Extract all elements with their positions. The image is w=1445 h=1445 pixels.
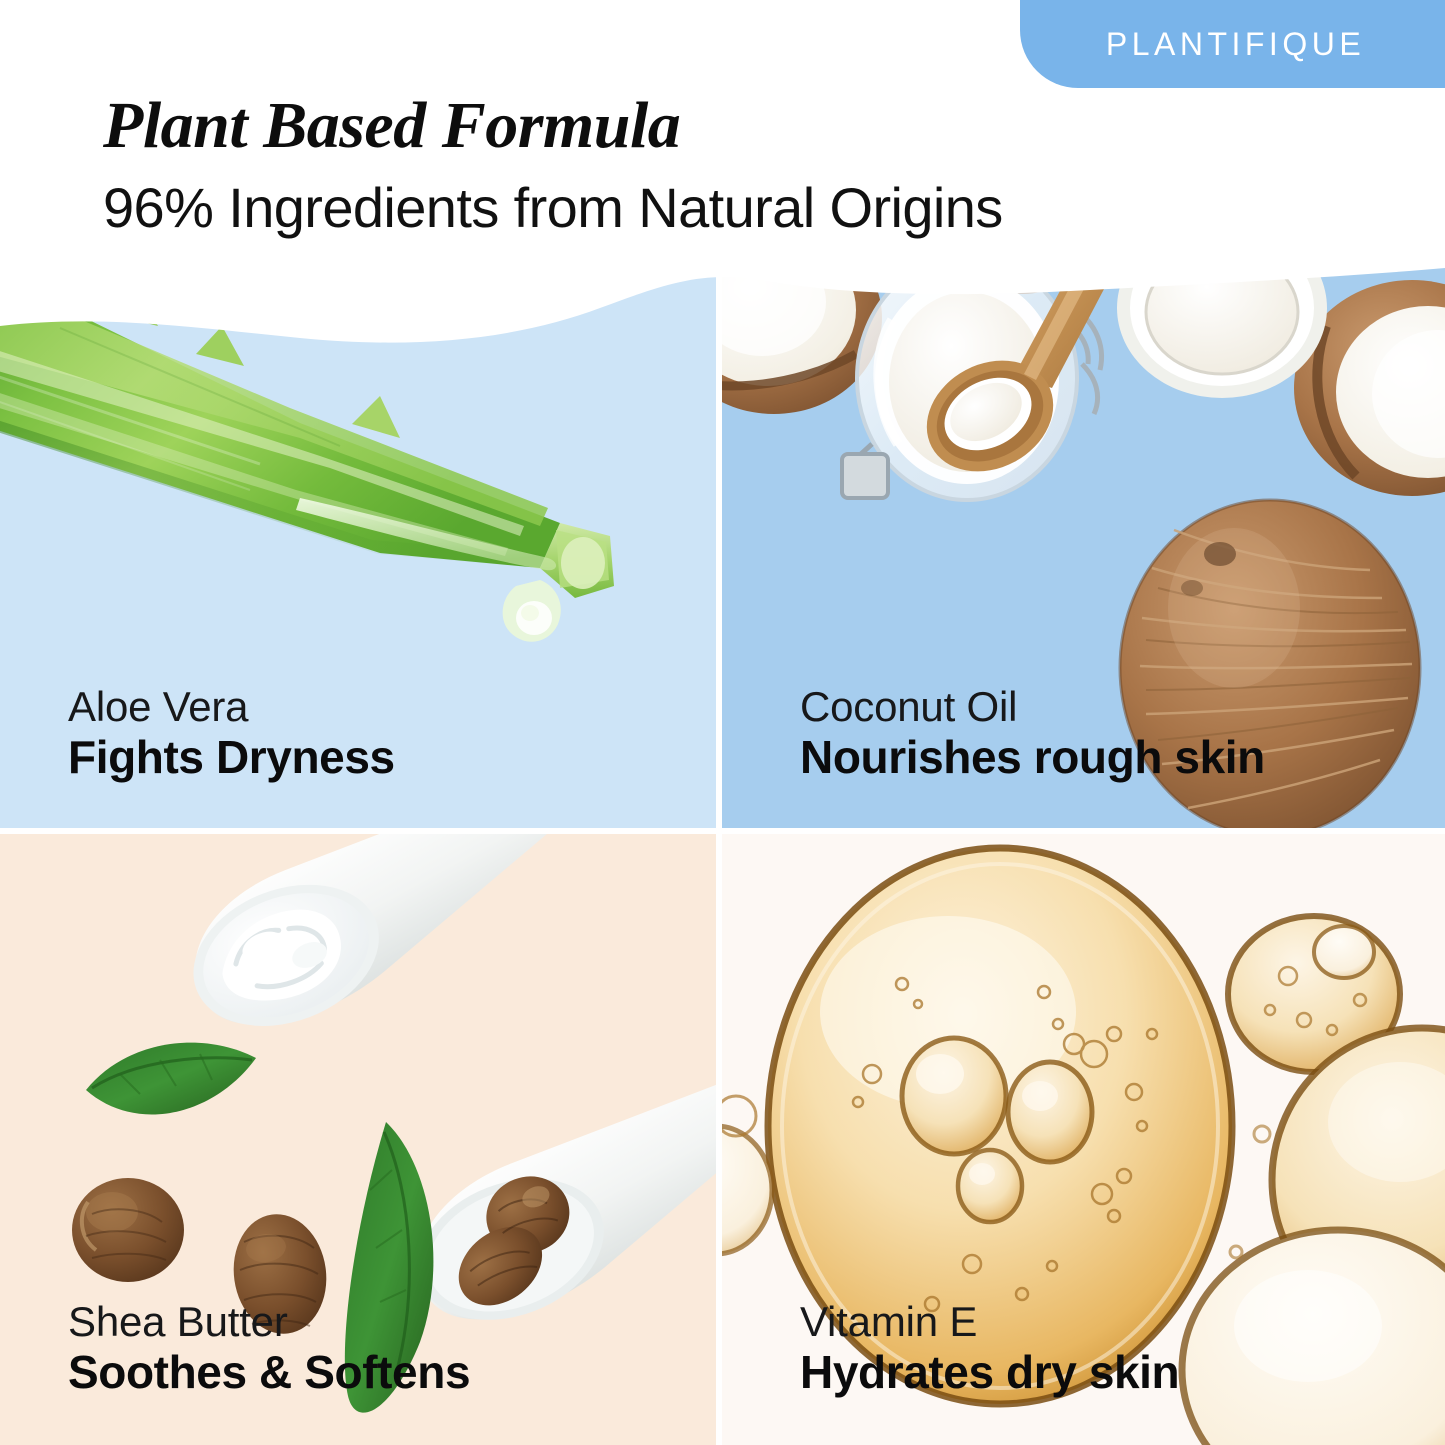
ingredient-benefit-coconut: Nourishes rough skin <box>800 730 1265 784</box>
caption-aloe-vera: Aloe Vera Fights Dryness <box>68 683 395 784</box>
ingredient-name-coconut: Coconut Oil <box>800 683 1265 730</box>
brand-name: PLANTIFIQUE <box>1100 28 1365 60</box>
panel-coconut-oil: Coconut Oil Nourishes rough skin <box>722 268 1445 828</box>
ingredient-benefit-shea: Soothes & Softens <box>68 1345 470 1399</box>
panel-aloe-vera: Aloe Vera Fights Dryness <box>0 268 716 828</box>
caption-coconut-oil: Coconut Oil Nourishes rough skin <box>800 683 1265 784</box>
ingredient-name-vitamin-e: Vitamin E <box>800 1298 1179 1345</box>
ingredient-name-aloe: Aloe Vera <box>68 683 395 730</box>
page-title: Plant Based Formula <box>103 92 1445 159</box>
product-infographic: Aloe Vera Fights Dryness <box>0 0 1445 1445</box>
caption-shea-butter: Shea Butter Soothes & Softens <box>68 1298 470 1399</box>
caption-vitamin-e: Vitamin E Hydrates dry skin <box>800 1298 1179 1399</box>
ingredient-benefit-aloe: Fights Dryness <box>68 730 395 784</box>
panel-shea-butter: Shea Butter Soothes & Softens <box>0 834 716 1445</box>
panel-vitamin-e: Vitamin E Hydrates dry skin <box>722 834 1445 1445</box>
brand-banner: PLANTIFIQUE <box>1020 0 1445 88</box>
ingredient-benefit-vitamin-e: Hydrates dry skin <box>800 1345 1179 1399</box>
ingredient-name-shea: Shea Butter <box>68 1298 470 1345</box>
page-subtitle: 96% Ingredients from Natural Origins <box>103 179 1445 238</box>
